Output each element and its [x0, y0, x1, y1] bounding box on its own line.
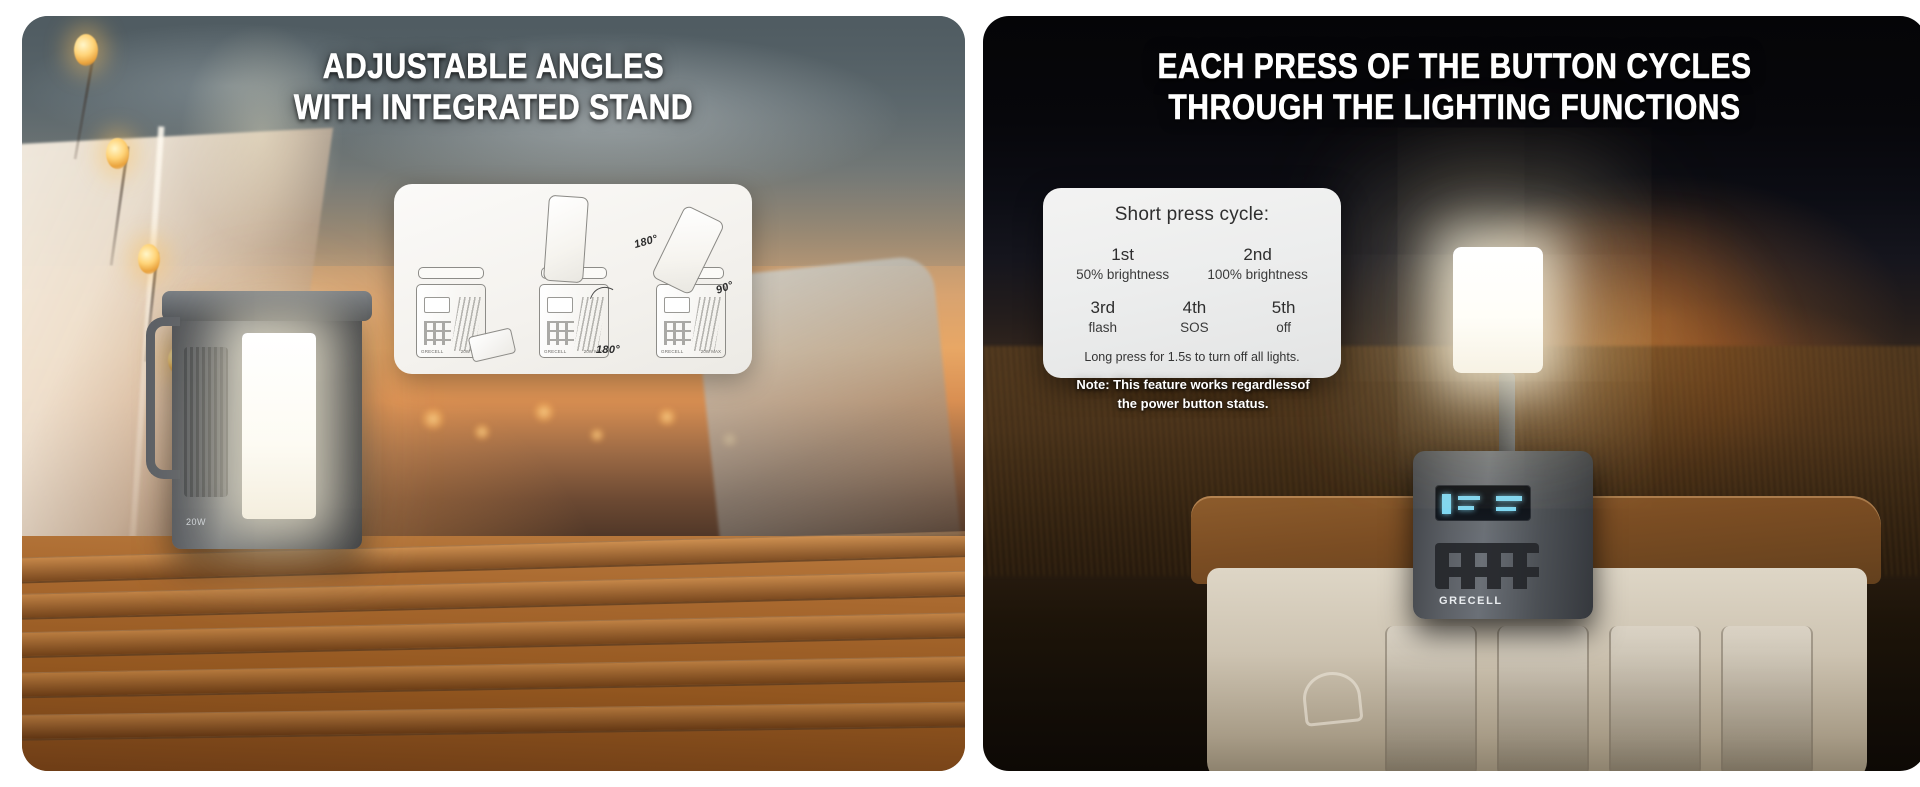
cycle-ordinal: 1st: [1076, 244, 1169, 266]
bokeh-light: [590, 428, 604, 442]
right-heading-line-2: THROUGH THE LIGHTING FUNCTIONS: [1083, 87, 1825, 128]
bokeh-light: [474, 424, 490, 440]
lantern-light-panel: [242, 333, 316, 519]
left-heading-line-2: WITH INTEGRATED STAND: [122, 87, 864, 128]
cycle-row-2: 3rd flash 4th SOS 5th off: [1057, 297, 1327, 336]
cycle-ordinal: 4th: [1180, 297, 1209, 319]
unit-vent: [691, 297, 724, 351]
string-light-bulb: [106, 138, 129, 169]
cycle-description: flash: [1089, 319, 1118, 336]
unit-port-array: [664, 321, 691, 345]
cycle-step: 1st 50% brightness: [1076, 244, 1169, 283]
unit-top-cap: [418, 267, 484, 279]
power-station-product: GRECELL: [1413, 451, 1593, 619]
unit-port-array: [424, 321, 451, 345]
power-button-note: Note: This feature works regardlessof th…: [1053, 376, 1333, 414]
panel-button-cycles: GRECELL Short press cycle: 1st 50% brigh…: [983, 16, 1920, 771]
light-support-arm: [1499, 373, 1515, 459]
cycle-description: off: [1272, 319, 1296, 336]
left-heading: ADJUSTABLE ANGLES WITH INTEGRATED STAND: [22, 46, 965, 129]
unit-brand-label: GRECELL: [661, 349, 683, 354]
card-title: Short press cycle:: [1057, 204, 1327, 226]
marketing-sheet: 20W GRECELL 20W MAX: [0, 0, 1920, 787]
cycle-step: 3rd flash: [1089, 297, 1118, 336]
unit-brand-label: GRECELL: [421, 349, 443, 354]
display-value: [1458, 496, 1480, 500]
display-battery-icon: [1442, 494, 1451, 514]
table-slat: [22, 654, 965, 699]
bokeh-light: [658, 408, 676, 426]
unit-port-array: [547, 321, 574, 345]
cooler-rib: [1609, 626, 1701, 771]
cycle-step: 2nd 100% brightness: [1207, 244, 1308, 283]
cooler-latch: [1300, 669, 1363, 727]
lantern-top-cap: [162, 291, 372, 321]
cooler-rib: [1385, 626, 1477, 771]
flip-up-light-upright: [543, 195, 589, 284]
angle-label-180-mid: 180°: [596, 344, 620, 356]
cooler-rib: [1497, 626, 1589, 771]
unit-display: [664, 297, 690, 313]
cycle-ordinal: 2nd: [1207, 244, 1308, 266]
short-press-cycle-card: Short press cycle: 1st 50% brightness 2n…: [1043, 188, 1341, 378]
cycle-ordinal: 5th: [1272, 297, 1296, 319]
cycle-description: 50% brightness: [1076, 266, 1169, 283]
cycle-step: 5th off: [1272, 297, 1296, 336]
bokeh-light: [422, 408, 444, 430]
string-light-bulb: [138, 244, 160, 274]
display-value: [1458, 506, 1474, 510]
right-heading: EACH PRESS OF THE BUTTON CYCLES THROUGH …: [983, 46, 1920, 129]
cycle-ordinal: 3rd: [1089, 297, 1118, 319]
display-value: [1496, 507, 1516, 511]
cycle-description: 100% brightness: [1207, 266, 1308, 283]
note-line-2: the power button status.: [1053, 395, 1333, 414]
display-value: [1496, 496, 1522, 501]
unit-brand-label: GRECELL: [544, 349, 566, 354]
cycle-step: 4th SOS: [1180, 297, 1209, 336]
angle-label-180-right: 180°: [633, 233, 659, 251]
panel-adjustable-angles: 20W GRECELL 20W MAX: [22, 16, 965, 771]
right-heading-line-1: EACH PRESS OF THE BUTTON CYCLES: [1083, 46, 1825, 87]
long-press-note: Long press for 1.5s to turn off all ligh…: [1057, 350, 1327, 364]
note-line-1: Note: This feature works regardlessof: [1053, 376, 1333, 395]
station-display: [1435, 485, 1531, 521]
cycle-description: SOS: [1180, 319, 1209, 336]
unit-watt-label: 20W MAX: [701, 349, 721, 354]
table-slat: [22, 700, 965, 742]
cycle-row-1: 1st 50% brightness 2nd 100% brightness: [1057, 244, 1327, 283]
lantern-product-left: 20W: [172, 307, 362, 549]
unit-display: [424, 297, 450, 313]
flip-up-light-panel-right: [1453, 247, 1543, 373]
table-slat: [22, 610, 965, 659]
lantern-handle: [146, 317, 180, 479]
unit-display: [547, 297, 573, 313]
bokeh-light: [534, 402, 554, 422]
left-heading-line-1: ADJUSTABLE ANGLES: [122, 46, 864, 87]
station-brand-label: GRECELL: [1439, 595, 1503, 607]
lantern-grill: [184, 347, 228, 497]
lantern-watt-badge: 20W: [186, 517, 206, 527]
adjustable-angle-diagram: GRECELL 20W MAX GRECELL 20W MAX 180°: [394, 184, 752, 374]
wooden-table: [22, 536, 965, 771]
station-body: [1413, 451, 1593, 619]
cooler-rib: [1721, 626, 1813, 771]
unit-housing: GRECELL 20W MAX: [656, 284, 726, 358]
station-port-array: [1435, 543, 1539, 589]
